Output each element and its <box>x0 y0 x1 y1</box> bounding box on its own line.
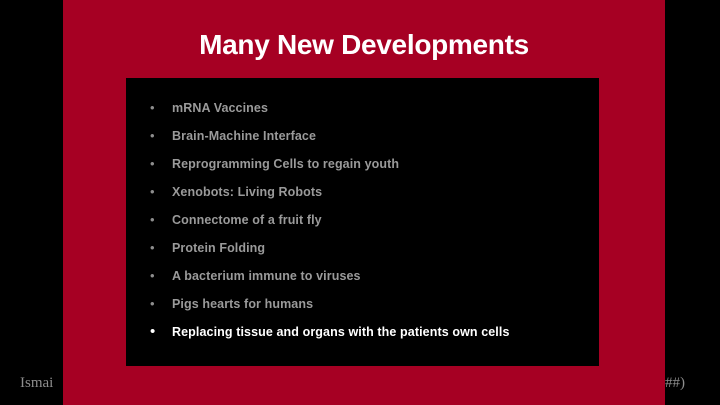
bullet-item[interactable]: •Protein Folding <box>150 234 591 262</box>
slide-canvas: Many New Developments •mRNA Vaccines•Bra… <box>0 0 720 405</box>
bullet-point-icon: • <box>150 262 172 290</box>
bullet-item-label: A bacterium immune to viruses <box>172 262 591 290</box>
bullet-point-icon: • <box>150 94 172 122</box>
bullet-point-icon: • <box>150 234 172 262</box>
bullet-item-label: Pigs hearts for humans <box>172 290 591 318</box>
bullet-point-icon: • <box>150 178 172 206</box>
slide-title: Many New Developments <box>63 28 665 62</box>
bullet-point-icon: • <box>150 150 172 178</box>
bullet-list: •mRNA Vaccines•Brain-Machine Interface•R… <box>150 94 591 346</box>
bullet-item[interactable]: •Reprogramming Cells to regain youth <box>150 150 591 178</box>
bullet-item-label: Brain-Machine Interface <box>172 122 591 150</box>
bullet-item-label: Replacing tissue and organs with the pat… <box>172 318 591 346</box>
bullet-item[interactable]: •Pigs hearts for humans <box>150 290 591 318</box>
bullet-item[interactable]: •A bacterium immune to viruses <box>150 262 591 290</box>
footer-author-text: Ismai <box>20 372 63 394</box>
bullet-item-label: Connectome of a fruit fly <box>172 206 591 234</box>
bullet-point-icon: • <box>150 122 172 150</box>
bullet-item-label: Xenobots: Living Robots <box>172 178 591 206</box>
footer-page-number: ##) <box>665 372 720 394</box>
bullet-item-label: Protein Folding <box>172 234 591 262</box>
bullet-point-icon: • <box>150 318 172 346</box>
bullet-item-label: mRNA Vaccines <box>172 94 591 122</box>
bullet-point-icon: • <box>150 290 172 318</box>
bullet-item[interactable]: •Replacing tissue and organs with the pa… <box>150 318 591 346</box>
bullet-item[interactable]: •Connectome of a fruit fly <box>150 206 591 234</box>
bullet-item-label: Reprogramming Cells to regain youth <box>172 150 591 178</box>
bullet-item[interactable]: •mRNA Vaccines <box>150 94 591 122</box>
bullet-point-icon: • <box>150 206 172 234</box>
bullet-item[interactable]: •Brain-Machine Interface <box>150 122 591 150</box>
slide-content-box: •mRNA Vaccines•Brain-Machine Interface•R… <box>126 78 599 366</box>
bullet-item[interactable]: •Xenobots: Living Robots <box>150 178 591 206</box>
